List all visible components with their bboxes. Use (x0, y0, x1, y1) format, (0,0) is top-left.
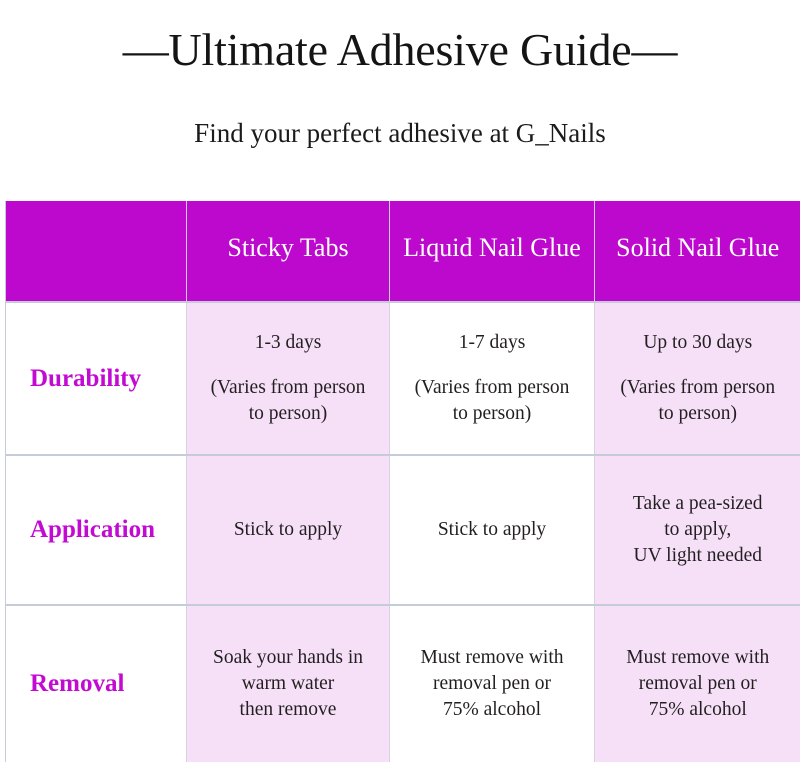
cell-removal-sticky-tabs: Soak your hands in warm water then remov… (187, 605, 390, 762)
page-subtitle: Find your perfect adhesive at G_Nails (0, 74, 800, 149)
table-row: Application Stick to apply Stick to appl… (6, 455, 800, 605)
cell-primary-text: 1-7 days (397, 330, 587, 356)
cell-durability-sticky-tabs: 1-3 days (Varies from person to person) (187, 302, 390, 455)
cell-removal-solid-nail-glue: Must remove with removal pen or 75% alco… (595, 605, 800, 762)
page-title: —Ultimate Adhesive Guide— (0, 0, 800, 74)
cell-primary-text: Take a pea-sized (602, 491, 794, 517)
adhesive-guide-page: —Ultimate Adhesive Guide— Find your perf… (0, 0, 800, 762)
cell-application-solid-nail-glue: Take a pea-sized to apply, UV light need… (595, 455, 800, 605)
table-header: Sticky Tabs Liquid Nail Glue Solid Nail … (6, 201, 800, 302)
cell-primary-text: Soak your hands in (194, 645, 382, 671)
cell-note-line-1: removal pen or (602, 671, 794, 697)
table-header-row: Sticky Tabs Liquid Nail Glue Solid Nail … (6, 201, 800, 302)
cell-note-line-2: 75% alcohol (397, 697, 587, 723)
cell-note-line-2: 75% alcohol (602, 697, 794, 723)
table-row: Removal Soak your hands in warm water th… (6, 605, 800, 762)
cell-primary-text: Must remove with (602, 645, 794, 671)
cell-application-liquid-nail-glue: Stick to apply (390, 455, 595, 605)
cell-note-line-2: then remove (194, 697, 382, 723)
cell-spacer (194, 356, 382, 375)
row-label-removal: Removal (6, 605, 187, 762)
cell-durability-solid-nail-glue: Up to 30 days (Varies from person to per… (595, 302, 800, 455)
cell-note-line-1: (Varies from person (194, 375, 382, 401)
table-body: Durability 1-3 days (Varies from person … (6, 302, 800, 762)
cell-removal-liquid-nail-glue: Must remove with removal pen or 75% alco… (390, 605, 595, 762)
cell-note-line-1: (Varies from person (602, 375, 794, 401)
cell-note-line-2: to person) (194, 401, 382, 427)
cell-durability-liquid-nail-glue: 1-7 days (Varies from person to person) (390, 302, 595, 455)
cell-note-line-1: removal pen or (397, 671, 587, 697)
cell-primary-text: Up to 30 days (602, 330, 794, 356)
comparison-table-wrapper: Sticky Tabs Liquid Nail Glue Solid Nail … (5, 201, 800, 762)
cell-note-line-1: warm water (194, 671, 382, 697)
cell-primary-text: Stick to apply (397, 517, 587, 543)
column-header-liquid-nail-glue: Liquid Nail Glue (390, 201, 595, 302)
row-label-durability: Durability (6, 302, 187, 455)
cell-note-line-2: UV light needed (602, 543, 794, 569)
adhesive-comparison-table: Sticky Tabs Liquid Nail Glue Solid Nail … (5, 201, 800, 762)
cell-primary-text: 1-3 days (194, 330, 382, 356)
table-corner-cell (6, 201, 187, 302)
cell-primary-text: Stick to apply (194, 517, 382, 543)
cell-spacer (602, 356, 794, 375)
table-row: Durability 1-3 days (Varies from person … (6, 302, 800, 455)
column-header-sticky-tabs: Sticky Tabs (187, 201, 390, 302)
row-label-application: Application (6, 455, 187, 605)
cell-note-line-2: to person) (397, 401, 587, 427)
cell-note-line-1: (Varies from person (397, 375, 587, 401)
cell-spacer (397, 356, 587, 375)
cell-primary-text: Must remove with (397, 645, 587, 671)
cell-note-line-1: to apply, (602, 517, 794, 543)
cell-note-line-2: to person) (602, 401, 794, 427)
cell-application-sticky-tabs: Stick to apply (187, 455, 390, 605)
column-header-solid-nail-glue: Solid Nail Glue (595, 201, 800, 302)
